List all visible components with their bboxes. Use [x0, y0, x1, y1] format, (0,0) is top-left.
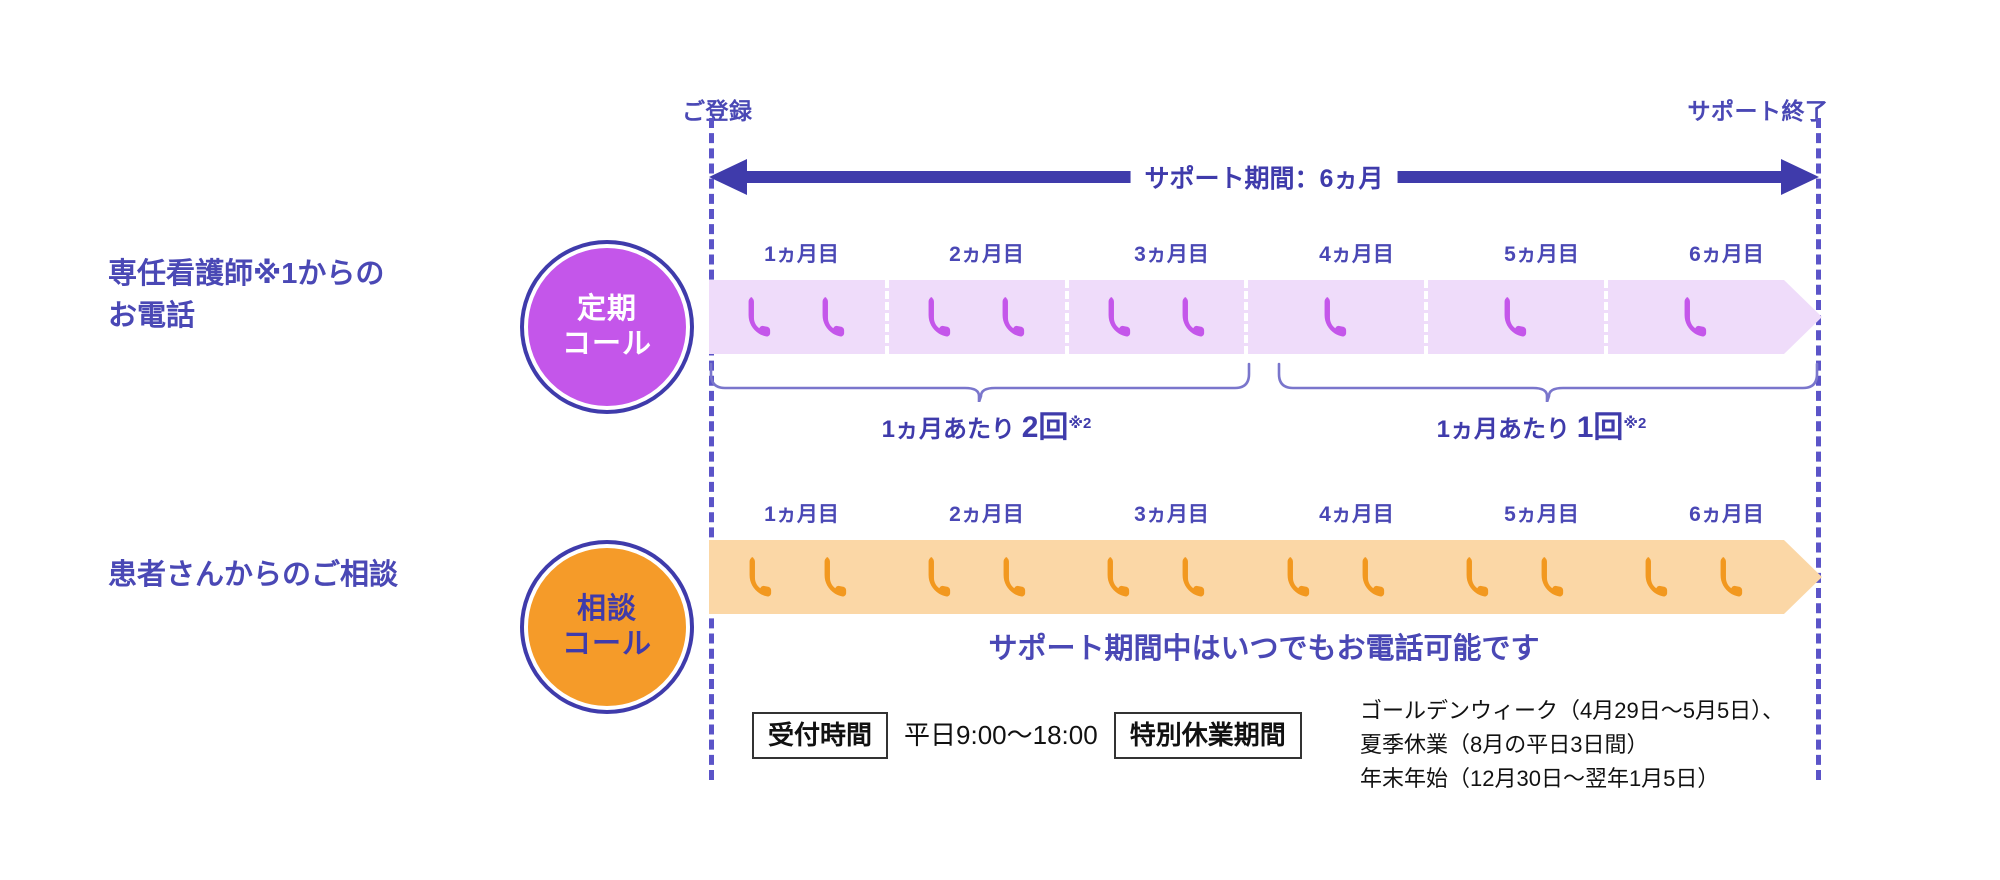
brace-left-prefix: 1ヵ月あたり [882, 416, 1022, 443]
phone-handset-icon [1096, 554, 1142, 600]
hours-label: 受付時間 [752, 712, 888, 759]
phone-handset-icon [738, 554, 784, 600]
month-tick: 1ヵ月目 [709, 498, 894, 532]
closure-details: ゴールデンウィーク（4月29日〜5月5日）、 夏季休業（8月の平日3日間） 年末… [1360, 694, 1784, 796]
band-arrow-tip [1784, 540, 1822, 614]
month-segment [1065, 280, 1245, 354]
phone-handset-icon [992, 554, 1038, 600]
support-period-label: サポート期間：6ヵ月 [1131, 159, 1398, 195]
month-segment [709, 540, 888, 614]
month-ticks-top: 1ヵ月目 2ヵ月目 3ヵ月目 4ヵ月目 5ヵ月目 6ヵ月目 [709, 238, 1819, 272]
phone-handset-icon [1171, 294, 1217, 340]
month-segment [885, 280, 1065, 354]
phone-handset-icon [1530, 554, 1576, 600]
phone-handset-icon [1634, 554, 1680, 600]
closure-label: 特別休業期間 [1114, 712, 1302, 759]
support-timeline-diagram: ご登録 サポート終了 サポート期間：6ヵ月 専任看護師※1からの お電話 定期 … [0, 0, 2000, 880]
month-segment [1424, 280, 1604, 354]
phone-handset-icon [811, 294, 857, 340]
badge-consultation-call: 相談 コール [524, 544, 690, 710]
month-segment [1244, 280, 1424, 354]
badge-consultation-line2: コール [562, 627, 652, 662]
month-segment [1247, 540, 1426, 614]
month-tick: 2ヵ月目 [894, 498, 1079, 532]
band-arrow-tip [1784, 280, 1822, 354]
phone-handset-icon [1171, 554, 1217, 600]
phone-handset-icon [737, 294, 783, 340]
brace-label-left: 1ヵ月あたり 2回※2 [709, 402, 1264, 446]
phone-handset-icon [813, 554, 859, 600]
anytime-note: サポート期間中はいつでもお電話可能です [709, 625, 1819, 667]
phone-handset-icon [1276, 554, 1322, 600]
phone-handset-icon [1673, 294, 1719, 340]
brace-icon [709, 362, 1819, 402]
phone-handset-icon [1709, 554, 1755, 600]
brace-left-note: ※2 [1068, 415, 1091, 432]
month-segment [1604, 280, 1784, 354]
phone-handset-icon [917, 294, 963, 340]
month-tick: 3ヵ月目 [1079, 498, 1264, 532]
phone-handset-icon [1097, 294, 1143, 340]
phone-handset-icon [1455, 554, 1501, 600]
nurse-call-row-label: 専任看護師※1からの お電話 [108, 253, 508, 337]
month-segment [709, 280, 885, 354]
hours-value: 平日9:00〜18:00 [888, 712, 1114, 759]
phone-handset-icon [1493, 294, 1539, 340]
brace-left-count: 2回 [1022, 411, 1069, 444]
month-tick: 2ヵ月目 [894, 238, 1079, 272]
brace-right-note: ※2 [1623, 415, 1646, 432]
end-guideline [1816, 118, 1821, 780]
phone-handset-icon [1351, 554, 1397, 600]
month-ticks-bottom: 1ヵ月目 2ヵ月目 3ヵ月目 4ヵ月目 5ヵ月目 6ヵ月目 [709, 498, 1819, 532]
nurse-call-band [709, 280, 1819, 354]
badge-consultation-line1: 相談 [577, 592, 637, 627]
brace-label-right: 1ヵ月あたり 1回※2 [1264, 402, 1819, 446]
registration-caption: ご登録 [682, 92, 753, 126]
month-tick: 6ヵ月目 [1634, 238, 1819, 272]
month-segment [888, 540, 1067, 614]
footer-info: 受付時間 平日9:00〜18:00 特別休業期間 [752, 712, 1302, 759]
patient-call-row-label: 患者さんからのご相談 [108, 554, 508, 596]
month-segment [1426, 540, 1605, 614]
badge-periodic-call: 定期 コール [524, 244, 690, 410]
month-tick: 4ヵ月目 [1264, 238, 1449, 272]
phone-handset-icon [991, 294, 1037, 340]
support-end-caption: サポート終了 [1688, 92, 1829, 126]
badge-periodic-line2: コール [562, 327, 652, 362]
phone-handset-icon [917, 554, 963, 600]
month-segment [1605, 540, 1784, 614]
month-tick: 5ヵ月目 [1449, 238, 1634, 272]
brace-right-count: 1回 [1577, 411, 1624, 444]
month-tick: 5ヵ月目 [1449, 498, 1634, 532]
month-tick: 1ヵ月目 [709, 238, 894, 272]
brace-right-prefix: 1ヵ月あたり [1437, 416, 1577, 443]
phone-handset-icon [1313, 294, 1359, 340]
call-frequency-braces: 1ヵ月あたり 2回※2 1ヵ月あたり 1回※2 [709, 362, 1819, 402]
support-period-arrow: サポート期間：6ヵ月 [709, 155, 1819, 199]
month-segment [1067, 540, 1246, 614]
month-tick: 6ヵ月目 [1634, 498, 1819, 532]
month-tick: 4ヵ月目 [1264, 498, 1449, 532]
month-tick: 3ヵ月目 [1079, 238, 1264, 272]
patient-call-band [709, 540, 1819, 614]
badge-periodic-line1: 定期 [577, 292, 637, 327]
start-guideline [709, 118, 714, 780]
